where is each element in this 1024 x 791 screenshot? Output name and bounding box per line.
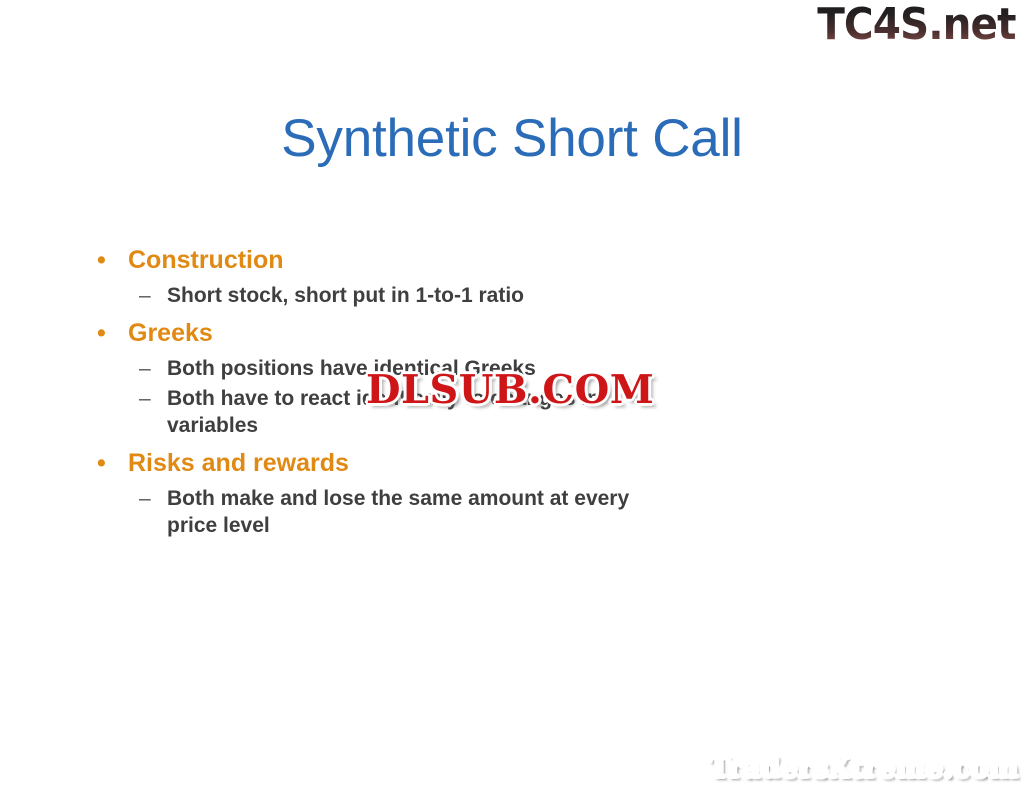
bullet-dot-icon: • (97, 315, 106, 352)
sub-bullet-label: Both make and lose the same amount at ev… (167, 485, 637, 539)
bullet-label: Construction (128, 246, 284, 274)
dash-marker-icon: – (139, 485, 151, 512)
bullet-label: Greeks (128, 319, 213, 347)
bullet-item-greeks: • Greeks (92, 315, 732, 352)
bullet-item-construction: • Construction (92, 242, 732, 279)
sub-bullet-label: Short stock, short put in 1-to-1 ratio (167, 282, 637, 309)
bullet-item-risks-and-rewards: • Risks and rewards (92, 445, 732, 482)
dash-marker-icon: – (139, 282, 151, 309)
brand-logo-tc4s: TC4S.net (818, 0, 1016, 52)
sub-bullet-item: – Short stock, short put in 1-to-1 ratio (92, 282, 732, 309)
bullet-dot-icon: • (97, 445, 106, 482)
sub-bullet-item: – Both make and lose the same amount at … (92, 485, 732, 539)
bullet-dot-icon: • (97, 242, 106, 279)
footer-logo-tradersxtreme: TradersXtreme.com (709, 751, 1018, 785)
dash-marker-icon: – (139, 385, 151, 412)
dash-marker-icon: – (139, 355, 151, 382)
page-title: Synthetic Short Call (0, 108, 1024, 170)
watermark-dlsub: DLSUB.COM (366, 368, 654, 412)
bullet-label: Risks and rewards (128, 449, 349, 477)
footer-logo-label: TradersXtreme.com (709, 751, 1018, 784)
presentation-slide: TC4S.net Synthetic Short Call • Construc… (0, 0, 1024, 791)
